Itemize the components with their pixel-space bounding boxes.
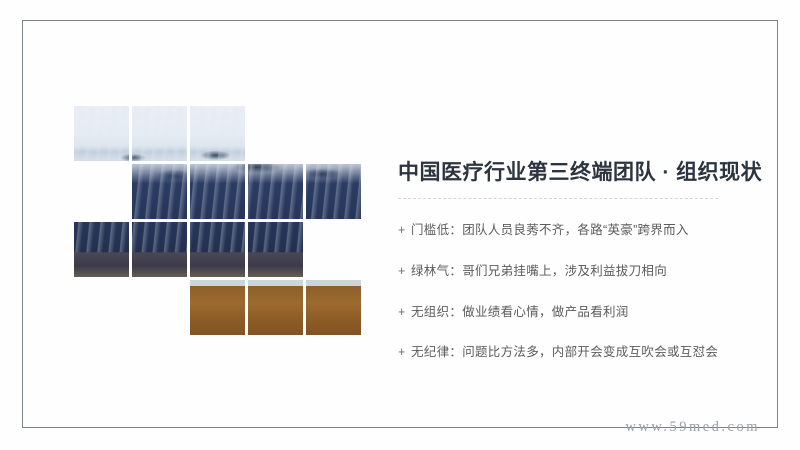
text-content-block: 中国医疗行业第三终端团队 · 组织现状 +门槛低：团队人员良莠不齐，各路“英豪”… [398, 160, 738, 362]
watermark: www.59med.com [625, 419, 760, 436]
bullet-text: 门槛低：团队人员良莠不齐，各路“英豪”跨界而入 [411, 221, 689, 240]
mosaic-tile [306, 164, 361, 219]
mosaic-tile [132, 106, 187, 161]
mosaic-tile [74, 106, 129, 161]
plus-icon: + [398, 343, 411, 362]
bullet-item: +无组织：做业绩看心情，做产品看利润 [398, 303, 738, 322]
bullet-item: +门槛低：团队人员良莠不齐，各路“英豪”跨界而入 [398, 221, 738, 240]
mosaic-tile [190, 164, 245, 219]
plus-icon: + [398, 262, 411, 281]
mosaic-tile [74, 222, 129, 277]
mosaic-tile [190, 106, 245, 161]
mosaic-tile [306, 280, 361, 335]
photo-mosaic [74, 106, 369, 341]
plus-icon: + [398, 303, 411, 322]
bullet-text: 无纪律：问题比方法多，内部开会变成互吹会或互怼会 [411, 343, 718, 362]
mosaic-tile [248, 164, 303, 219]
mosaic-tile [248, 280, 303, 335]
mosaic-tile [132, 164, 187, 219]
bullet-item: +无纪律：问题比方法多，内部开会变成互吹会或互怼会 [398, 343, 738, 362]
mosaic-tile [190, 280, 245, 335]
bullet-list: +门槛低：团队人员良莠不齐，各路“英豪”跨界而入+绿林气：哥们兄弟挂嘴上，涉及利… [398, 221, 738, 362]
title-divider [398, 198, 718, 199]
mosaic-tile [190, 222, 245, 277]
plus-icon: + [398, 221, 411, 240]
bullet-text: 无组织：做业绩看心情，做产品看利润 [411, 303, 629, 322]
mosaic-tile [248, 222, 303, 277]
bullet-item: +绿林气：哥们兄弟挂嘴上，涉及利益拔刀相向 [398, 262, 738, 281]
slide-canvas: 中国医疗行业第三终端团队 · 组织现状 +门槛低：团队人员良莠不齐，各路“英豪”… [0, 0, 800, 450]
mosaic-tile [132, 222, 187, 277]
bullet-text: 绿林气：哥们兄弟挂嘴上，涉及利益拔刀相向 [411, 262, 667, 281]
page-title: 中国医疗行业第三终端团队 · 组织现状 [398, 160, 738, 185]
